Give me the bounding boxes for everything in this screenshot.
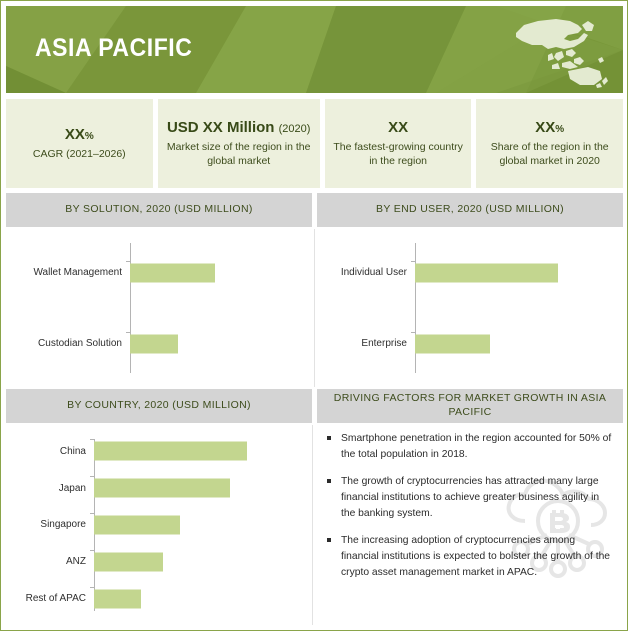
- chart-panel-by-end-user: Individual User Enterprise: [315, 229, 623, 387]
- chart-row-1: Wallet Management Custodian Solution Ind…: [6, 229, 623, 387]
- bar-label: Rest of APAC: [16, 593, 94, 604]
- bar-china: [94, 442, 247, 461]
- bar-label: Singapore: [16, 519, 94, 530]
- bar-chart-by-end-user: Individual User Enterprise: [325, 237, 613, 379]
- bar-row: Rest of APAC: [16, 587, 302, 611]
- bullet-icon: [327, 479, 331, 483]
- stat-caption-market-size: Market size of the region in the global …: [166, 140, 312, 168]
- bar-singapore: [94, 515, 180, 534]
- axis-tick: [126, 261, 130, 262]
- bullet-icon: [327, 436, 331, 440]
- driving-factors-list: Smartphone penetration in the region acc…: [327, 431, 613, 581]
- stat-value-market-size: USD XX Million (2020): [167, 119, 310, 136]
- axis-tick: [90, 513, 94, 514]
- bar-wallet-management: [130, 263, 215, 282]
- axis-tick: [126, 332, 130, 333]
- list-item: The growth of cryptocurrencies has attra…: [327, 474, 613, 522]
- asia-pacific-map-icon: [508, 15, 611, 88]
- stat-card-fastest-growing: XX The fastest-growing country in the re…: [325, 99, 472, 188]
- bar-japan: [94, 479, 230, 498]
- list-item-text: Smartphone penetration in the region acc…: [341, 433, 611, 460]
- bar-label: Wallet Management: [16, 267, 130, 278]
- bar-label: Individual User: [325, 267, 415, 278]
- infographic-page: ASIA PACIFIC XX% CAGR (2021–2026) USD XX…: [0, 0, 628, 631]
- axis-tick: [90, 550, 94, 551]
- bar-row: China: [16, 439, 302, 463]
- chart-row-2: China Japan Singapore ANZ: [6, 425, 623, 625]
- section-header-row-1: BY SOLUTION, 2020 (USD MILLION) BY END U…: [6, 193, 623, 227]
- region-header-banner: ASIA PACIFIC: [6, 6, 623, 93]
- section-header-by-end-user: BY END USER, 2020 (USD MILLION): [317, 193, 623, 227]
- list-item: The increasing adoption of cryptocurrenc…: [327, 533, 613, 581]
- axis-tick: [411, 332, 415, 333]
- list-item-text: The growth of cryptocurrencies has attra…: [341, 476, 599, 519]
- chart-panel-by-solution: Wallet Management Custodian Solution: [6, 229, 315, 387]
- chart-panel-by-country: China Japan Singapore ANZ: [6, 425, 313, 625]
- stat-card-row: XX% CAGR (2021–2026) USD XX Million (202…: [6, 99, 623, 188]
- bar-row: ANZ: [16, 550, 302, 574]
- stat-value-share: XX%: [535, 119, 564, 136]
- list-item: Smartphone penetration in the region acc…: [327, 431, 613, 463]
- bar-custodian-solution: [130, 334, 178, 353]
- bar-anz: [94, 552, 163, 571]
- bar-row: Individual User: [325, 261, 613, 285]
- bullet-icon: [327, 538, 331, 542]
- bar-label: Enterprise: [325, 338, 415, 349]
- page-title: ASIA PACIFIC: [35, 34, 192, 63]
- bar-individual-user: [415, 263, 558, 282]
- axis-tick: [90, 476, 94, 477]
- bar-row: Custodian Solution: [16, 332, 304, 356]
- axis-tick: [411, 261, 415, 262]
- axis-tick: [90, 587, 94, 588]
- stat-card-market-size: USD XX Million (2020) Market size of the…: [158, 99, 320, 188]
- bar-chart-by-country: China Japan Singapore ANZ: [16, 433, 302, 617]
- stat-card-share: XX% Share of the region in the global ma…: [476, 99, 623, 188]
- bar-label: Custodian Solution: [16, 338, 130, 349]
- bar-label: Japan: [16, 483, 94, 494]
- bar-chart-by-solution: Wallet Management Custodian Solution: [16, 237, 304, 379]
- section-header-driving-factors: DRIVING FACTORS FOR MARKET GROWTH IN ASI…: [317, 389, 623, 423]
- stat-card-cagr: XX% CAGR (2021–2026): [6, 99, 153, 188]
- axis-tick: [90, 439, 94, 440]
- stat-caption-fastest-growing: The fastest-growing country in the regio…: [333, 140, 464, 168]
- section-header-row-2: BY COUNTRY, 2020 (USD MILLION) DRIVING F…: [6, 389, 623, 423]
- stat-caption-share: Share of the region in the global market…: [484, 140, 615, 168]
- bar-label: ANZ: [16, 556, 94, 567]
- section-header-by-country: BY COUNTRY, 2020 (USD MILLION): [6, 389, 312, 423]
- section-header-by-solution: BY SOLUTION, 2020 (USD MILLION): [6, 193, 312, 227]
- bar-rest-of-apac: [94, 589, 141, 608]
- list-item-text: The increasing adoption of cryptocurrenc…: [341, 535, 610, 578]
- bar-enterprise: [415, 334, 490, 353]
- driving-factors-panel: Smartphone penetration in the region acc…: [313, 425, 623, 625]
- stat-caption-cagr: CAGR (2021–2026): [33, 147, 126, 161]
- bar-row: Singapore: [16, 513, 302, 537]
- stat-value-cagr: XX%: [65, 126, 94, 143]
- bar-row: Enterprise: [325, 332, 613, 356]
- bar-row: Wallet Management: [16, 261, 304, 285]
- bar-label: China: [16, 446, 94, 457]
- stat-value-fastest-growing: XX: [388, 119, 408, 136]
- bar-row: Japan: [16, 476, 302, 500]
